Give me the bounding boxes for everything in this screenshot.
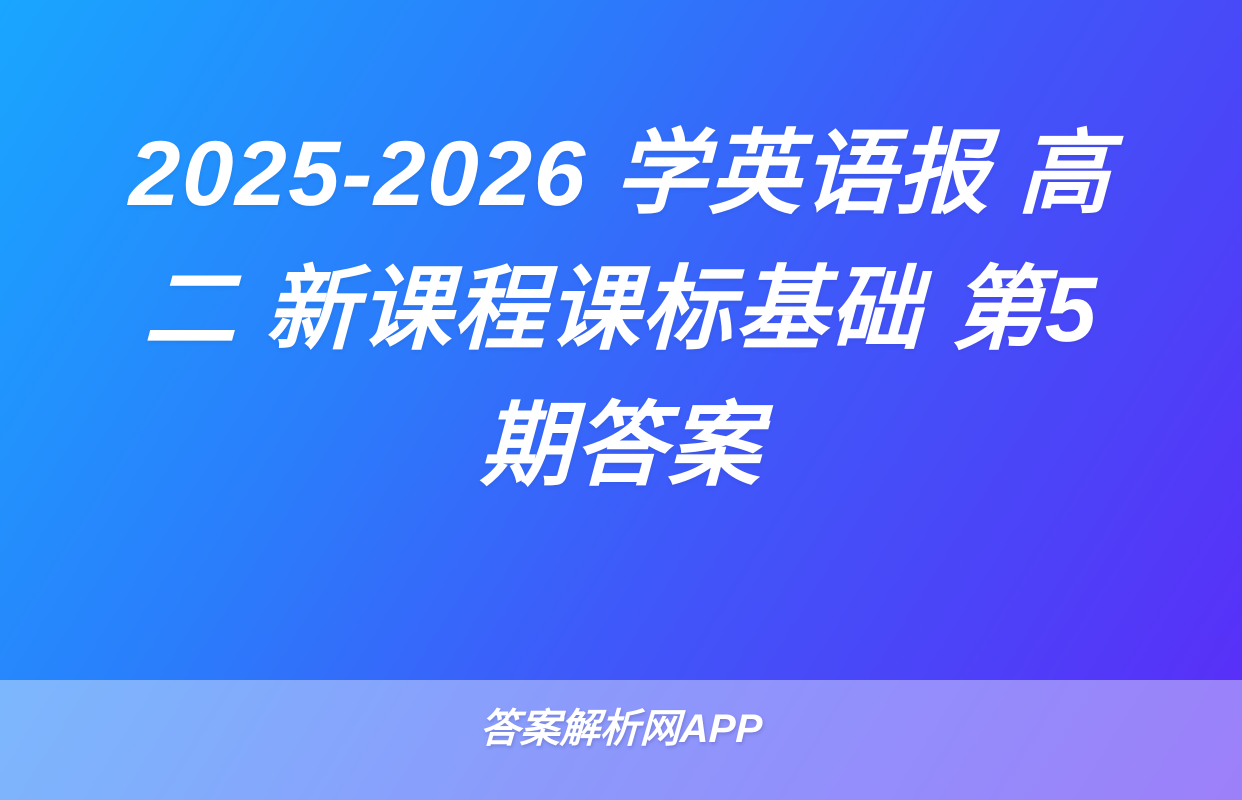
banner-title-line-2: 二 新课程课标基础 第5 [143,242,1100,378]
banner-title-line-3: 期答案 [479,378,763,514]
footer-watermark-text: 答案解析网APP [479,706,763,752]
cover-banner: 2025-2026 学英语报 高 二 新课程课标基础 第5 期答案 答案解析网A… [0,0,1242,800]
banner-title-block: 2025-2026 学英语报 高 二 新课程课标基础 第5 期答案 [0,0,1242,680]
footer-watermark-band: 答案解析网APP [0,680,1242,800]
banner-title-line-1: 2025-2026 学英语报 高 [128,106,1113,242]
